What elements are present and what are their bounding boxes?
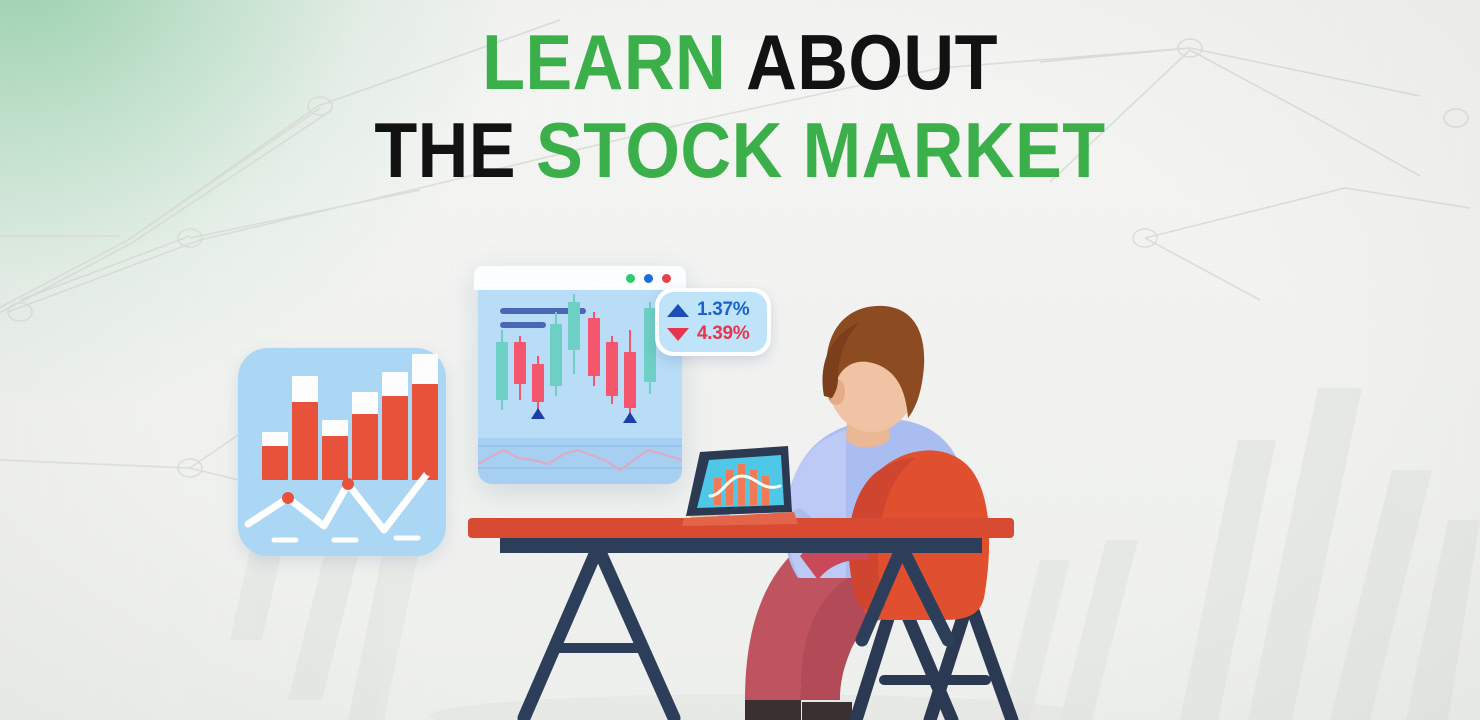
candle-6 — [588, 312, 600, 386]
poster-canvas: LEARN ABOUT THE STOCK MARKET — [0, 0, 1480, 720]
green-dot[interactable] — [626, 274, 635, 283]
browser-title-bar — [474, 266, 686, 290]
percent-row-up: 1.37% — [667, 299, 767, 321]
candle-8 — [624, 330, 636, 420]
red-dot[interactable] — [662, 274, 671, 283]
desk-leg-left — [524, 552, 674, 718]
candle-7 — [606, 336, 618, 404]
headline-word-stock-market: STOCK MARKET — [536, 106, 1106, 194]
card-trend-line — [238, 348, 446, 556]
laptop — [682, 446, 798, 526]
trend-dot-2 — [342, 478, 354, 490]
headline-block: LEARN ABOUT THE STOCK MARKET — [0, 24, 1480, 189]
percent-badge[interactable]: 1.37% 4.39% — [655, 288, 771, 356]
candle-3 — [532, 356, 544, 416]
headline-word-learn: LEARN — [482, 18, 726, 106]
triangle-down-icon — [667, 328, 689, 341]
percent-up-value: 1.37% — [697, 299, 749, 321]
buy-marker-1 — [531, 408, 545, 419]
buy-marker-2 — [623, 412, 637, 423]
person-shoe-front — [745, 700, 801, 720]
headline-word-the: THE — [374, 106, 516, 194]
person-shoe-back — [802, 702, 852, 720]
percent-badge-inner: 1.37% 4.39% — [659, 292, 767, 352]
candle-5 — [568, 294, 580, 374]
bar-chart-card — [238, 348, 446, 556]
percent-down-value: 4.39% — [697, 323, 749, 345]
headline-line-1: LEARN ABOUT — [74, 24, 1406, 100]
browser-body — [478, 290, 682, 484]
blue-dot[interactable] — [644, 274, 653, 283]
candle-1 — [496, 330, 508, 410]
candle-4 — [550, 312, 562, 396]
headline-word-about: ABOUT — [746, 18, 998, 106]
triangle-up-icon — [667, 304, 689, 317]
headline-line-2: THE STOCK MARKET — [74, 112, 1406, 188]
chart-footer-panel — [478, 438, 682, 484]
percent-row-down: 4.39% — [667, 323, 767, 345]
browser-window[interactable] — [474, 266, 686, 488]
volume-wave — [478, 438, 682, 484]
trend-dot-1 — [282, 492, 294, 504]
candle-2 — [514, 336, 526, 400]
trend-dot-3 — [424, 464, 436, 476]
